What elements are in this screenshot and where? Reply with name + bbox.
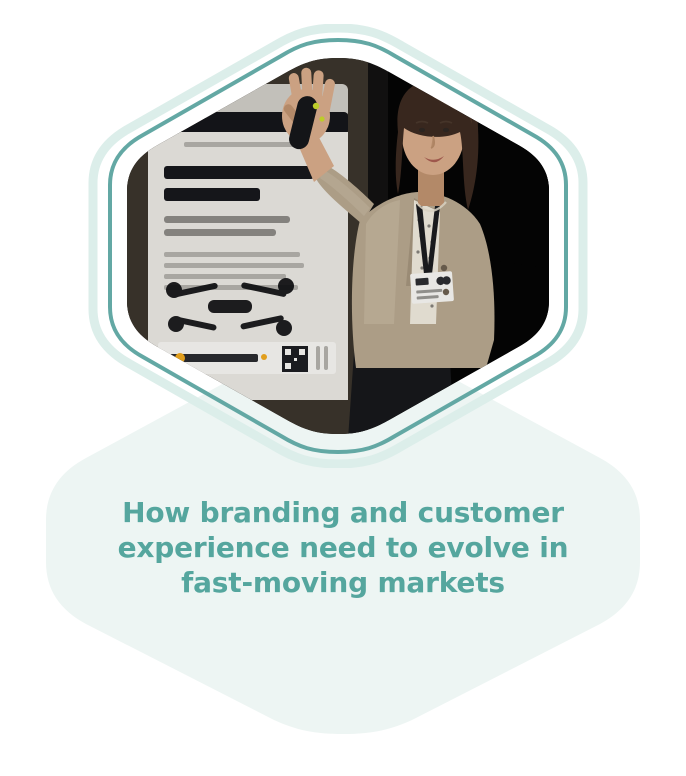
article-title[interactable]: How branding and customer experience nee… [0,495,686,600]
speaker-photo-hexagon [88,24,588,468]
article-title-line-1: How branding and customer [110,495,576,530]
article-title-line-2: experience need to evolve in [110,530,576,565]
photo-content [88,24,588,468]
article-card[interactable]: How branding and customer experience nee… [0,0,686,776]
article-title-line-3: fast-moving markets [110,565,576,600]
